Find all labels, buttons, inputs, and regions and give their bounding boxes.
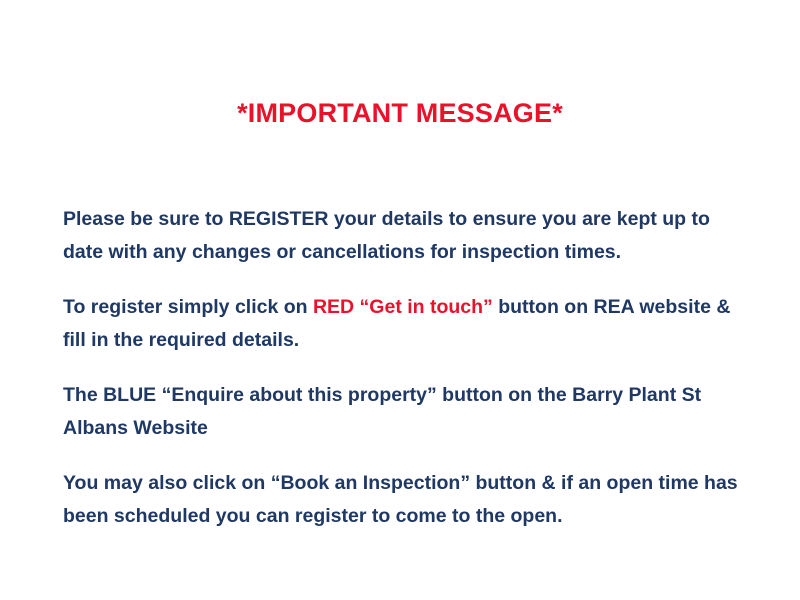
page-title: *IMPORTANT MESSAGE* — [0, 98, 800, 129]
paragraph-blue-enquire: The BLUE “Enquire about this property” b… — [63, 379, 743, 445]
message-body: Please be sure to REGISTER your details … — [63, 203, 743, 533]
slide-canvas: *IMPORTANT MESSAGE* Please be sure to RE… — [0, 0, 800, 600]
paragraph-register-details: Please be sure to REGISTER your details … — [63, 203, 743, 269]
paragraph-red-get-in-touch: To register simply click on RED “Get in … — [63, 291, 743, 357]
paragraph-book-inspection: You may also click on “Book an Inspectio… — [63, 467, 743, 533]
highlight-red-get-in-touch: RED “Get in touch” — [313, 296, 493, 318]
text-before-highlight: To register simply click on — [63, 296, 313, 318]
